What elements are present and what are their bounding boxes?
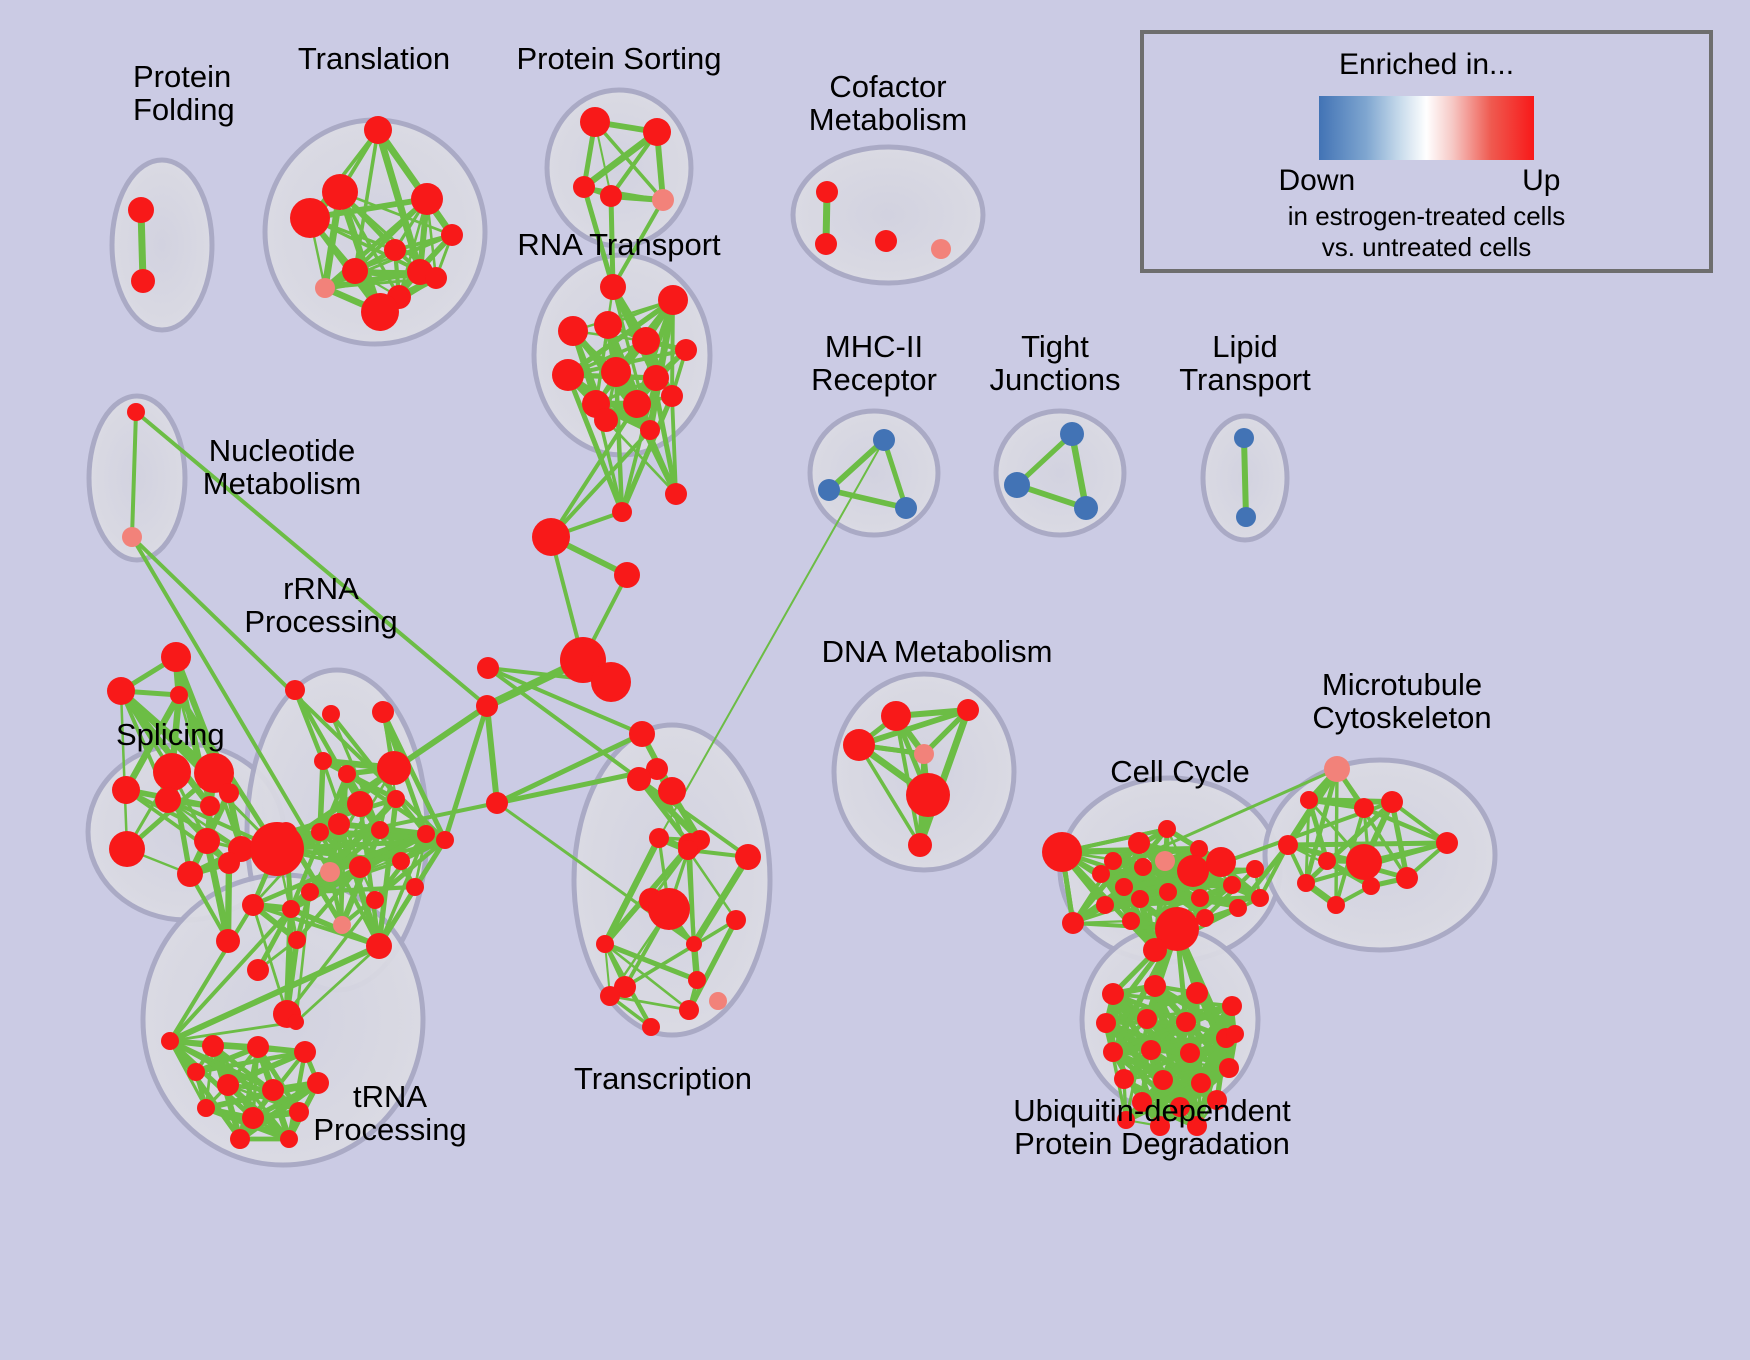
enrichment-map-figure: Protein FoldingTranslationProtein Sortin… bbox=[0, 0, 1750, 1360]
network-node bbox=[1131, 890, 1149, 908]
network-node bbox=[285, 680, 305, 700]
network-edge bbox=[611, 196, 613, 287]
network-node bbox=[1226, 1025, 1244, 1043]
network-node bbox=[1300, 791, 1318, 809]
network-node bbox=[815, 233, 837, 255]
network-node bbox=[333, 916, 351, 934]
network-node bbox=[726, 910, 746, 930]
network-node bbox=[364, 116, 392, 144]
network-node bbox=[1114, 1069, 1134, 1089]
network-node bbox=[1318, 852, 1336, 870]
network-node bbox=[906, 773, 950, 817]
network-node bbox=[1297, 874, 1315, 892]
network-node bbox=[688, 971, 706, 989]
legend-color-gradient-bar bbox=[1319, 96, 1534, 160]
network-node bbox=[931, 239, 951, 259]
network-node bbox=[1074, 496, 1098, 520]
network-node bbox=[594, 408, 618, 432]
network-node bbox=[294, 1041, 316, 1063]
network-node bbox=[614, 562, 640, 588]
network-node bbox=[288, 1014, 304, 1030]
network-node bbox=[202, 1035, 224, 1057]
network-node bbox=[366, 933, 392, 959]
network-node bbox=[1060, 422, 1084, 446]
network-node bbox=[230, 1129, 250, 1149]
network-node bbox=[643, 118, 671, 146]
network-node bbox=[307, 1072, 329, 1094]
network-node bbox=[573, 176, 595, 198]
network-node bbox=[873, 429, 895, 451]
network-node bbox=[1004, 472, 1030, 498]
network-node bbox=[649, 828, 669, 848]
network-node bbox=[1381, 791, 1403, 813]
network-node bbox=[216, 929, 240, 953]
network-edge bbox=[1336, 769, 1337, 905]
network-node bbox=[1128, 832, 1150, 854]
network-node bbox=[131, 269, 155, 293]
legend-up-label: Up bbox=[1522, 164, 1560, 198]
network-node bbox=[843, 729, 875, 761]
network-node bbox=[1159, 883, 1177, 901]
network-node bbox=[217, 1074, 239, 1096]
network-node bbox=[1143, 938, 1167, 962]
network-node bbox=[161, 1032, 179, 1050]
network-node bbox=[735, 844, 761, 870]
network-node bbox=[109, 831, 145, 867]
network-node bbox=[342, 258, 368, 284]
network-node bbox=[558, 316, 588, 346]
network-node bbox=[322, 174, 358, 210]
network-node bbox=[643, 365, 669, 391]
network-node bbox=[1122, 912, 1140, 930]
network-node bbox=[1196, 909, 1214, 927]
network-node bbox=[311, 823, 329, 841]
network-node bbox=[366, 891, 384, 909]
network-node bbox=[280, 1130, 298, 1148]
network-node bbox=[1236, 507, 1256, 527]
network-node bbox=[1096, 1013, 1116, 1033]
network-node bbox=[1354, 798, 1374, 818]
network-node bbox=[1191, 889, 1209, 907]
cluster-hull bbox=[810, 411, 938, 535]
network-node bbox=[417, 825, 435, 843]
network-node bbox=[1278, 835, 1298, 855]
network-node bbox=[1251, 889, 1269, 907]
network-node bbox=[262, 1079, 284, 1101]
network-node bbox=[1436, 832, 1458, 854]
network-node bbox=[161, 642, 191, 672]
cluster-hull bbox=[112, 160, 212, 330]
network-node bbox=[218, 852, 240, 874]
network-edge bbox=[1309, 800, 1392, 802]
network-node bbox=[322, 705, 340, 723]
network-node bbox=[1222, 996, 1242, 1016]
network-node bbox=[818, 479, 840, 501]
network-node bbox=[580, 107, 610, 137]
cluster-hull bbox=[793, 147, 983, 283]
network-node bbox=[627, 767, 651, 791]
network-node bbox=[642, 1018, 660, 1036]
network-node bbox=[250, 822, 304, 876]
network-node bbox=[1092, 865, 1110, 883]
network-node bbox=[170, 686, 188, 704]
network-node bbox=[200, 796, 220, 816]
network-node bbox=[247, 1036, 269, 1058]
network-node bbox=[288, 931, 306, 949]
network-node bbox=[678, 840, 698, 860]
network-node bbox=[476, 695, 498, 717]
legend-down-label: Down bbox=[1279, 164, 1356, 198]
network-node bbox=[1155, 851, 1175, 871]
network-node bbox=[679, 1000, 699, 1020]
network-node bbox=[908, 833, 932, 857]
network-node bbox=[686, 936, 702, 952]
network-node bbox=[1396, 867, 1418, 889]
network-node bbox=[1187, 1116, 1207, 1136]
network-node bbox=[1219, 1058, 1239, 1078]
network-node bbox=[349, 856, 371, 878]
network-node bbox=[187, 1063, 205, 1081]
network-node bbox=[1177, 855, 1209, 887]
network-node bbox=[594, 311, 622, 339]
network-node bbox=[1134, 858, 1152, 876]
network-node bbox=[387, 790, 405, 808]
network-node bbox=[1117, 1111, 1135, 1129]
network-node bbox=[301, 883, 319, 901]
network-node bbox=[1170, 1097, 1190, 1117]
network-node bbox=[629, 721, 655, 747]
network-node bbox=[600, 185, 622, 207]
cluster-hull bbox=[547, 90, 691, 246]
network-node bbox=[1180, 1043, 1200, 1063]
network-node bbox=[219, 783, 239, 803]
network-node bbox=[1191, 1073, 1211, 1093]
network-node bbox=[1362, 877, 1380, 895]
network-node bbox=[122, 527, 142, 547]
network-node bbox=[957, 699, 979, 721]
network-node bbox=[477, 657, 499, 679]
network-node bbox=[1206, 847, 1236, 877]
legend-endpoints: Down Up bbox=[1277, 164, 1577, 200]
network-edge bbox=[1244, 438, 1246, 517]
network-edge bbox=[487, 706, 497, 803]
network-node bbox=[112, 776, 140, 804]
network-node bbox=[372, 701, 394, 723]
network-node bbox=[1229, 899, 1247, 917]
network-node bbox=[1144, 975, 1166, 997]
network-node bbox=[1207, 1090, 1227, 1110]
network-node bbox=[282, 900, 300, 918]
network-node bbox=[623, 390, 651, 418]
network-node bbox=[1103, 1042, 1123, 1062]
network-node bbox=[1141, 1040, 1161, 1060]
network-node bbox=[665, 483, 687, 505]
network-node bbox=[242, 1107, 264, 1129]
network-node bbox=[648, 888, 690, 930]
network-node bbox=[658, 285, 688, 315]
network-node bbox=[600, 274, 626, 300]
network-node bbox=[601, 357, 631, 387]
network-node bbox=[1102, 983, 1124, 1005]
network-node bbox=[1153, 1070, 1173, 1090]
network-node bbox=[1062, 912, 1084, 934]
network-node bbox=[320, 862, 340, 882]
network-node bbox=[1150, 1116, 1170, 1136]
legend-box: Enriched in... Down Up in estrogen-treat… bbox=[1140, 30, 1713, 273]
network-node bbox=[194, 828, 220, 854]
network-node bbox=[661, 385, 683, 407]
network-node bbox=[895, 497, 917, 519]
network-node bbox=[881, 701, 911, 731]
network-node bbox=[1137, 1009, 1157, 1029]
network-node bbox=[155, 787, 181, 813]
network-node bbox=[1223, 876, 1241, 894]
network-node bbox=[1234, 428, 1254, 448]
network-node bbox=[1324, 756, 1350, 782]
network-node bbox=[640, 420, 660, 440]
network-node bbox=[347, 791, 373, 817]
network-node bbox=[914, 744, 934, 764]
network-node bbox=[127, 403, 145, 421]
network-node bbox=[371, 821, 389, 839]
network-node bbox=[247, 959, 269, 981]
network-node bbox=[552, 359, 584, 391]
network-node bbox=[177, 861, 203, 887]
network-node bbox=[658, 777, 686, 805]
network-node bbox=[242, 894, 264, 916]
network-node bbox=[128, 197, 154, 223]
network-node bbox=[406, 878, 424, 896]
network-node bbox=[1115, 878, 1133, 896]
network-node bbox=[436, 831, 454, 849]
network-node bbox=[441, 224, 463, 246]
network-node bbox=[338, 765, 356, 783]
network-node bbox=[1327, 896, 1345, 914]
network-node bbox=[532, 518, 570, 556]
network-node bbox=[1158, 820, 1176, 838]
network-node bbox=[596, 935, 614, 953]
network-node bbox=[1132, 1092, 1152, 1112]
network-node bbox=[1176, 1012, 1196, 1032]
network-node bbox=[875, 230, 897, 252]
network-node bbox=[328, 813, 350, 835]
network-node bbox=[314, 752, 332, 770]
network-node bbox=[591, 662, 631, 702]
network-node bbox=[361, 293, 399, 331]
network-node bbox=[1186, 982, 1208, 1004]
network-node bbox=[709, 992, 727, 1010]
network-node bbox=[289, 1102, 309, 1122]
network-node bbox=[315, 278, 335, 298]
network-node bbox=[392, 852, 410, 870]
network-node bbox=[107, 677, 135, 705]
network-node bbox=[1096, 896, 1114, 914]
network-node bbox=[612, 502, 632, 522]
network-node bbox=[425, 267, 447, 289]
network-node bbox=[600, 986, 620, 1006]
network-node bbox=[486, 792, 508, 814]
network-node bbox=[197, 1099, 215, 1117]
network-node bbox=[153, 753, 191, 791]
legend-subtitle-line1: in estrogen-treated cells bbox=[1144, 202, 1709, 231]
network-node bbox=[384, 239, 406, 261]
network-node bbox=[411, 183, 443, 215]
network-node bbox=[1346, 844, 1382, 880]
network-node bbox=[1042, 832, 1082, 872]
network-edge bbox=[445, 706, 487, 840]
network-node bbox=[1246, 860, 1264, 878]
network-node bbox=[675, 339, 697, 361]
legend-title: Enriched in... bbox=[1144, 48, 1709, 82]
legend-subtitle-line2: vs. untreated cells bbox=[1144, 233, 1709, 262]
network-node bbox=[290, 198, 330, 238]
network-node bbox=[652, 189, 674, 211]
network-node bbox=[632, 327, 660, 355]
network-node bbox=[377, 751, 411, 785]
network-node bbox=[816, 181, 838, 203]
